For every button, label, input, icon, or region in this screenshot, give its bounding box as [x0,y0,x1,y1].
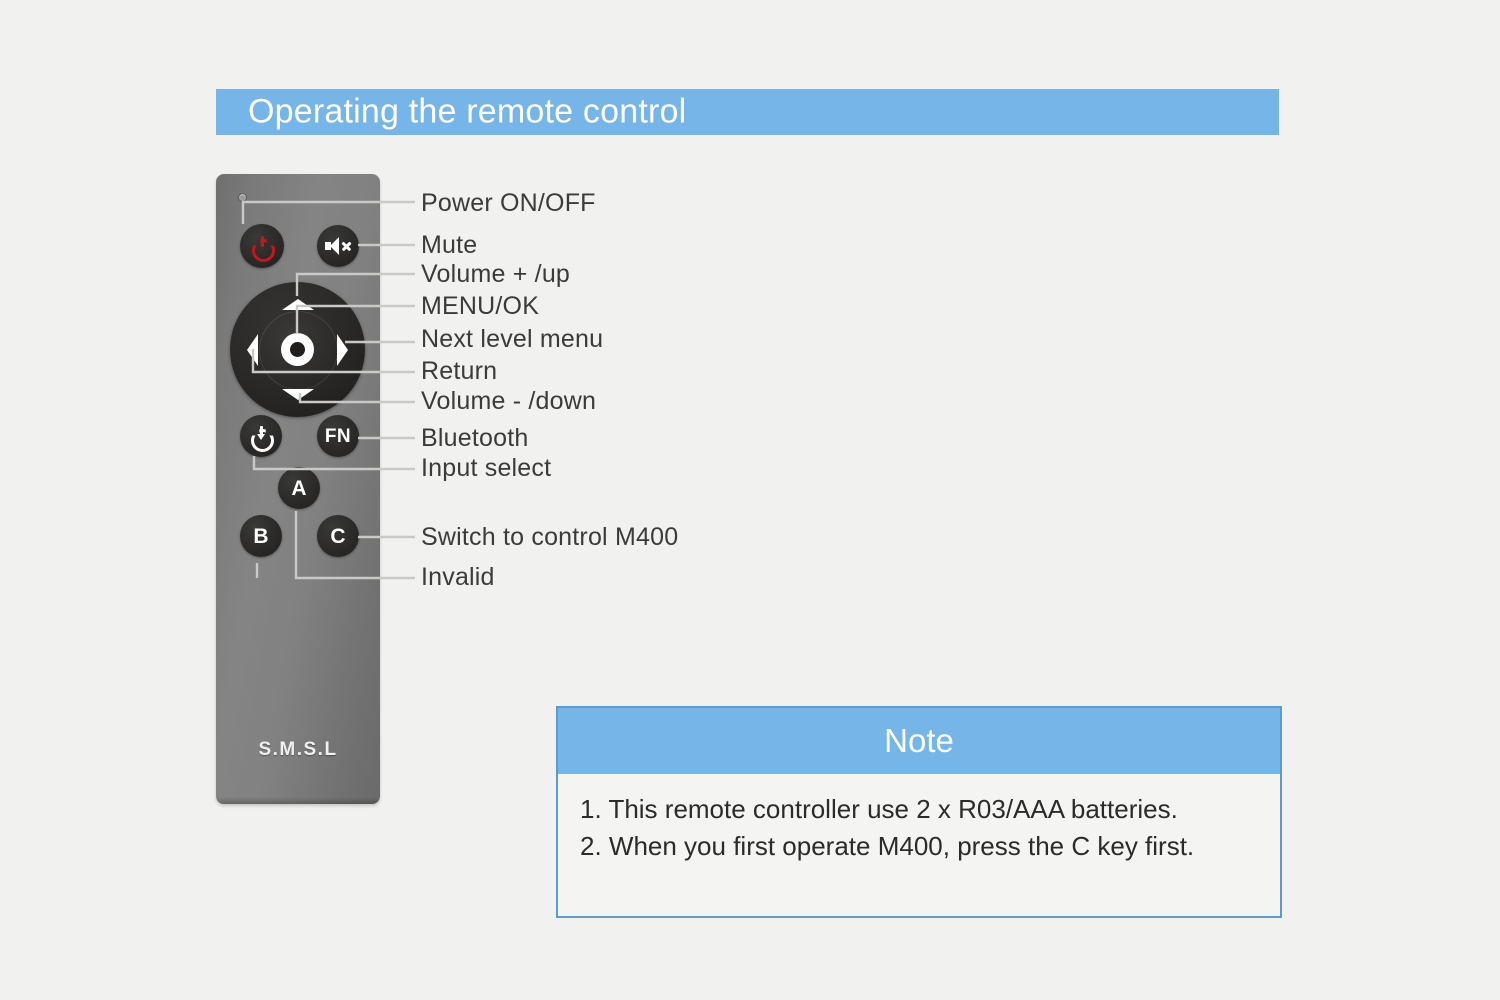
power-down-arrow-icon [251,426,271,446]
callout-volume-down: Volume - /down [421,387,596,416]
input-select-button[interactable] [240,415,282,457]
circle-ok-icon[interactable] [281,333,314,366]
fn-bluetooth-button[interactable]: FN [317,415,359,457]
page-title: Operating the remote control [248,93,686,132]
callout-next-level: Next level menu [421,325,603,354]
b-icon: B [253,526,268,547]
callout-power: Power ON/OFF [421,189,596,218]
callout-switch-m400: Switch to control M400 [421,523,678,552]
mute-button[interactable] [317,225,359,267]
power-button[interactable] [240,224,284,268]
c-button[interactable]: C [317,515,359,557]
a-icon: A [291,478,306,499]
callout-invalid: Invalid [421,563,495,592]
c-icon: C [330,526,345,547]
b-button[interactable]: B [240,515,282,557]
a-button[interactable]: A [278,467,320,509]
callout-bluetooth: Bluetooth [421,424,528,453]
section-header-banner: Operating the remote control [216,89,1279,135]
ir-led-indicator-icon [238,193,247,202]
callout-mute: Mute [421,231,477,260]
triangle-left-icon[interactable] [247,334,258,366]
triangle-up-icon[interactable] [282,299,314,310]
triangle-right-icon[interactable] [337,334,348,366]
power-icon [252,236,272,256]
fn-icon: FN [325,427,351,446]
note-title: Note [884,722,954,760]
remote-control-body: FN A B C S.M.S.L [216,174,380,804]
callout-return: Return [421,357,497,386]
callout-menu-ok: MENU/OK [421,292,539,321]
note-box: Note 1. This remote controller use 2 x R… [556,706,1282,918]
mute-speaker-icon [325,237,351,255]
brand-logo: S.M.S.L [216,739,380,761]
triangle-down-icon[interactable] [282,389,314,400]
callout-input-select: Input select [421,454,551,483]
note-body: 1. This remote controller use 2 x R03/AA… [558,774,1280,865]
note-header: Note [558,708,1280,774]
note-line-2: 2. When you first operate M400, press th… [580,828,1258,865]
dpad-navigation-ring[interactable] [230,282,365,417]
note-line-1: 1. This remote controller use 2 x R03/AA… [580,791,1258,828]
callout-volume-up: Volume + /up [421,260,570,289]
